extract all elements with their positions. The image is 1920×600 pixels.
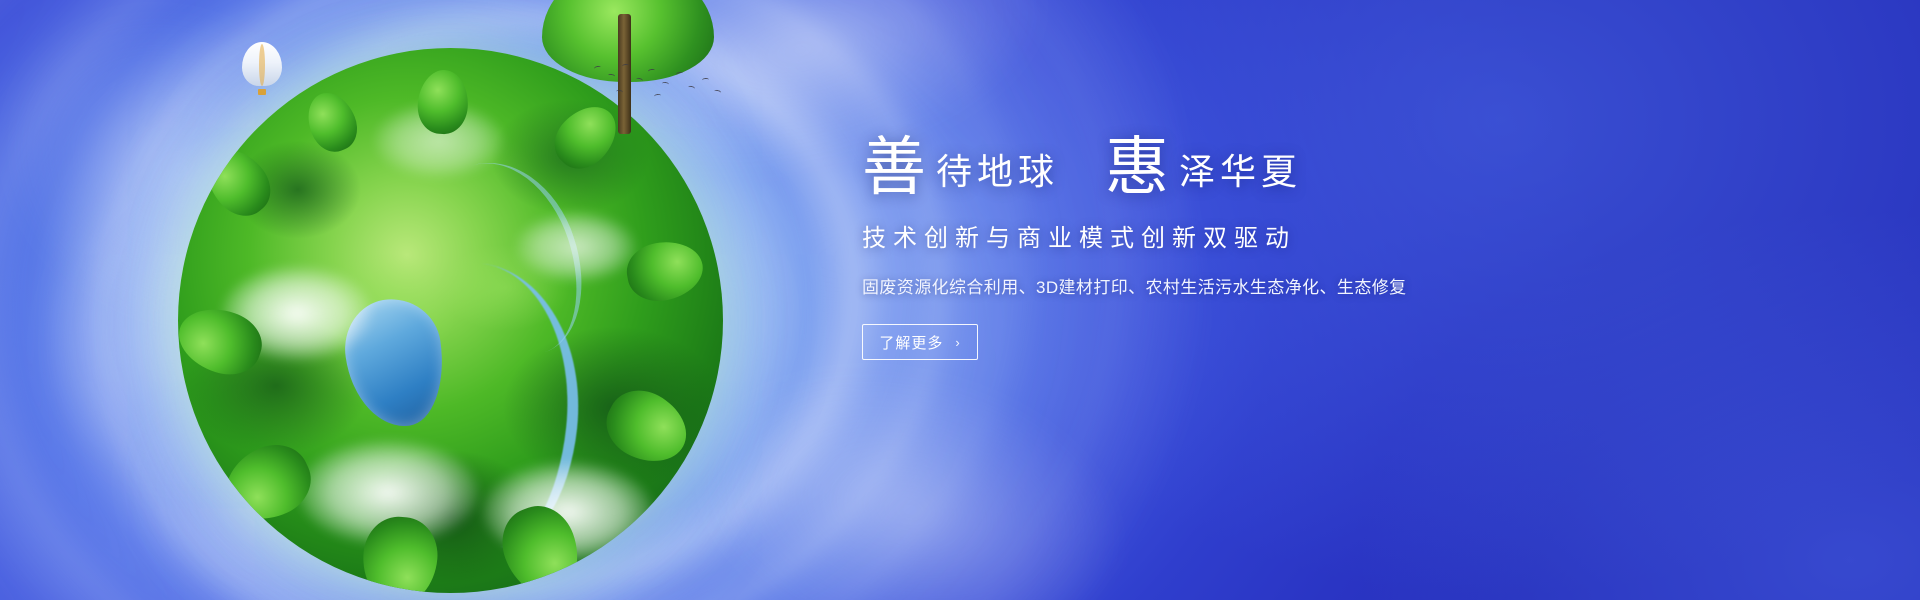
tiny-planet-earth-image bbox=[150, 20, 750, 600]
bird-icon bbox=[676, 71, 684, 76]
bird-icon bbox=[702, 78, 709, 82]
birds-flock bbox=[590, 60, 730, 106]
bird-icon bbox=[648, 68, 656, 73]
hero-description: 固废资源化综合利用、3D建材打印、农村生活污水生态净化、生态修复 bbox=[862, 273, 1542, 298]
planet-cloud bbox=[516, 212, 636, 282]
planet-tree bbox=[299, 85, 364, 158]
balloon-stripe bbox=[259, 44, 265, 86]
bird-icon bbox=[608, 73, 616, 78]
learn-more-label: 了解更多 bbox=[879, 332, 943, 353]
bird-icon bbox=[616, 90, 623, 95]
hero-subtitle: 技术创新与商业模式创新双驱动 bbox=[862, 218, 1542, 253]
bird-icon bbox=[654, 94, 661, 99]
bird-icon bbox=[594, 65, 602, 71]
headline-rest-2: 泽华夏 bbox=[1169, 154, 1302, 190]
planet-sphere bbox=[178, 48, 723, 593]
planet-tree bbox=[595, 379, 698, 476]
balloon-basket bbox=[258, 89, 266, 95]
hot-air-balloon-icon bbox=[242, 42, 282, 94]
bird-icon bbox=[688, 85, 696, 91]
bird-icon bbox=[636, 77, 644, 83]
bird-icon bbox=[622, 64, 629, 69]
bird-icon bbox=[714, 89, 722, 94]
hero-headline: 善 待地球 惠 泽华夏 bbox=[862, 132, 1542, 196]
chevron-right-icon: › bbox=[955, 335, 960, 350]
planet-tree bbox=[194, 137, 282, 227]
learn-more-button[interactable]: 了解更多 › bbox=[862, 324, 978, 360]
bird-icon bbox=[662, 82, 669, 87]
headline-char-primary-2: 惠 bbox=[1105, 136, 1169, 200]
planet-tree bbox=[543, 94, 628, 179]
hero-text-block: 善 待地球 惠 泽华夏 技术创新与商业模式创新双驱动 固废资源化综合利用、3D建… bbox=[862, 132, 1542, 360]
headline-rest-1: 待地球 bbox=[926, 154, 1059, 190]
planet-tree bbox=[214, 433, 322, 533]
headline-char-primary-1: 善 bbox=[862, 136, 926, 200]
hero-banner: 善 待地球 惠 泽华夏 技术创新与商业模式创新双驱动 固废资源化综合利用、3D建… bbox=[0, 0, 1920, 600]
